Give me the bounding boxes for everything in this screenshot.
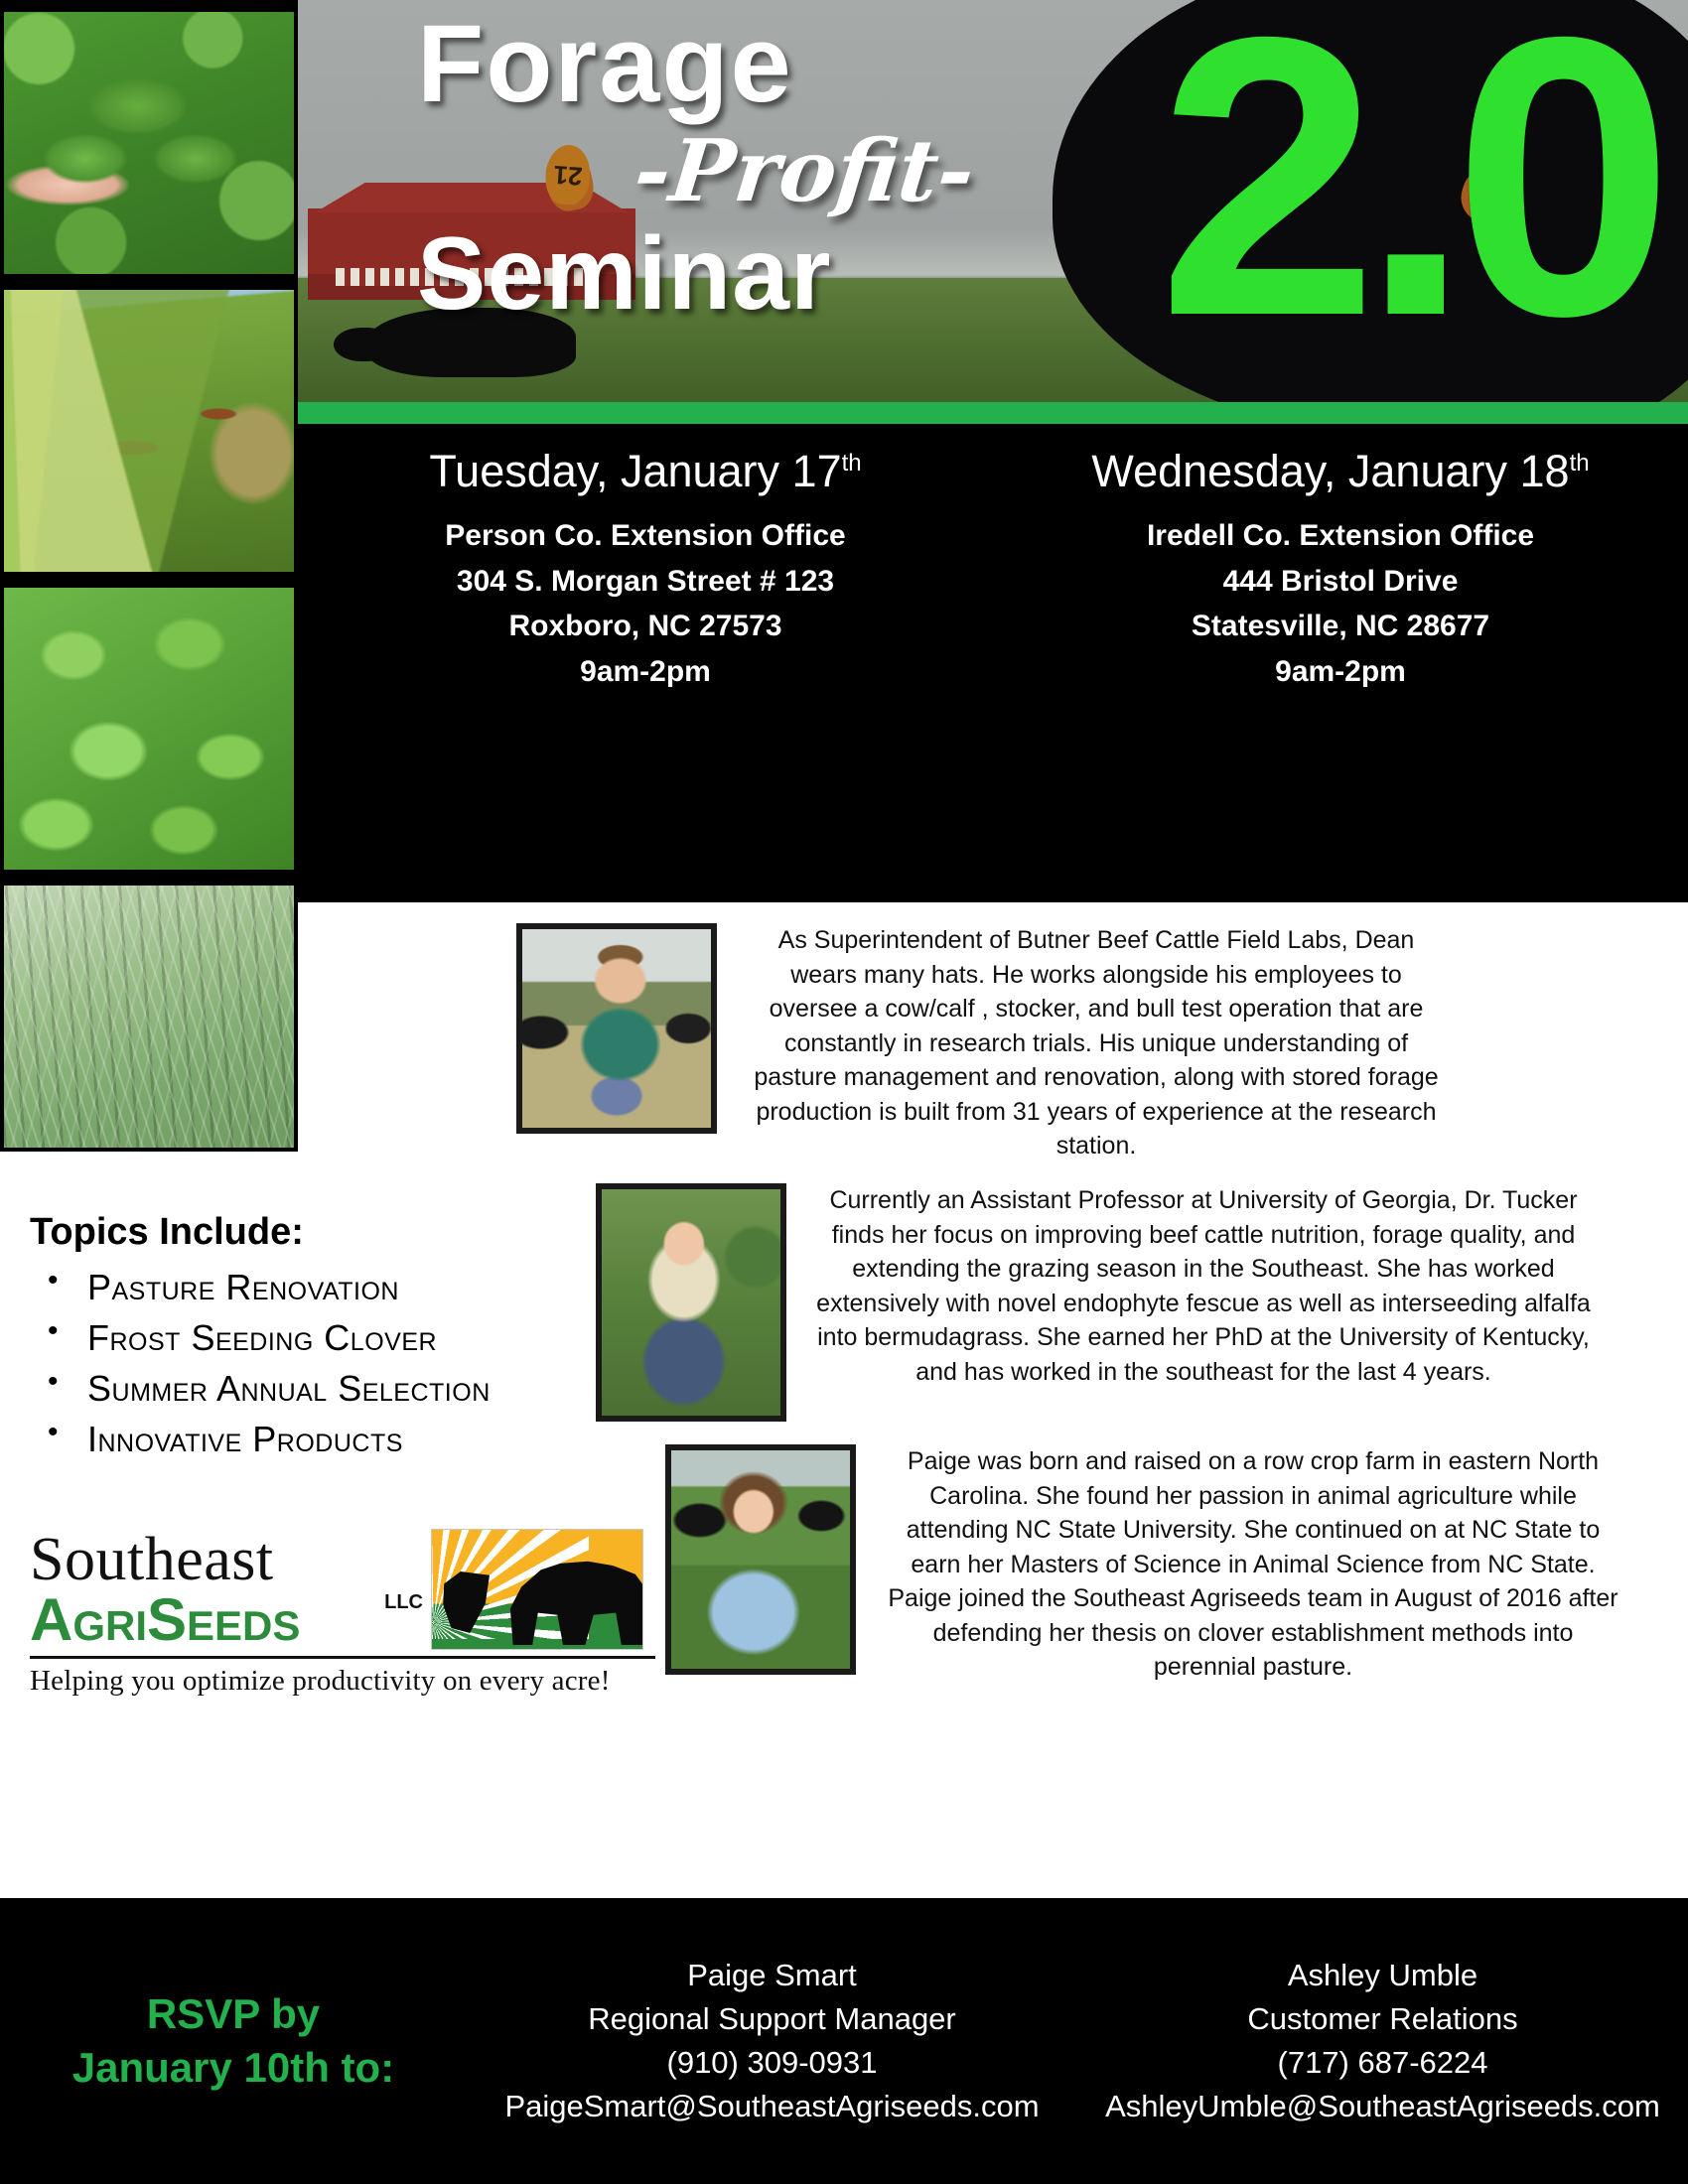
bio-jennifer-tucker: Currently an Assistant Professor at Univ…	[596, 1183, 1688, 1422]
photo-clover	[0, 8, 298, 278]
logo-word-southeast: Southeast	[30, 1530, 417, 1590]
event-address: 304 S. Morgan Street # 123	[298, 559, 993, 605]
topics-section: Topics Include: Pasture Renovation Frost…	[30, 1211, 586, 1464]
contact-title: Regional Support Manager	[467, 1997, 1077, 2041]
photo-dean-askew	[516, 923, 717, 1134]
topic-item: Summer Annual Selection	[30, 1363, 586, 1414]
logo-sunrise-cow-mark	[431, 1529, 643, 1650]
contact-title: Customer Relations	[1077, 1997, 1688, 2041]
photo-jennifer-tucker	[596, 1183, 786, 1422]
bio-dean-askew: As Superintendent of Butner Beef Cattle …	[516, 923, 1668, 1163]
event-city-state-zip: Statesville, NC 28677	[993, 604, 1688, 649]
guest-speaker-person: Guest Speaker: Dr. Jennifer Tucker	[298, 730, 993, 766]
guest-speaker-row: Guest Speaker: Dr. Jennifer Tucker Guest…	[298, 730, 1688, 766]
hero-banner: 21 Forage -Profit- Seminar 2.0	[298, 0, 1688, 417]
event-date-text: Wednesday, January 18	[1091, 446, 1569, 496]
bio-text-paige: Paige was born and raised on a row crop …	[886, 1444, 1620, 1685]
photo-corn	[0, 286, 298, 576]
contact-phone[interactable]: (910) 309-0931	[467, 2041, 1077, 2085]
topics-list: Pasture Renovation Frost Seeding Clover …	[30, 1262, 586, 1464]
photo-grass	[0, 882, 298, 1152]
logo-agriseeds-text: AgriSeeds	[30, 1586, 300, 1653]
logo-wordmark: Southeast AgriSeedsLLC	[30, 1530, 417, 1650]
bio-text-dean: As Superintendent of Butner Beef Cattle …	[749, 923, 1444, 1163]
event-city-state-zip: Roxboro, NC 27573	[298, 604, 993, 649]
bio-paige-smart: Paige was born and raised on a row crop …	[665, 1444, 1688, 1685]
paige-portrait-image	[671, 1450, 850, 1669]
event-date-suffix: th	[842, 450, 862, 477]
hero-title-group: Forage -Profit- Seminar	[417, 10, 1192, 326]
brassica-image	[4, 588, 294, 870]
grass-image	[4, 886, 294, 1148]
logo-llc-suffix: LLC	[384, 1592, 423, 1612]
left-photo-strip	[0, 0, 298, 1152]
event-date-text: Tuesday, January 17	[429, 446, 841, 496]
logo-tagline: Helping you optimize productivity on eve…	[30, 1665, 655, 1698]
contact-email[interactable]: PaigeSmart@SoutheastAgriseeds.com	[467, 2085, 1077, 2128]
event-column-person-county: Tuesday, January 17th Person Co. Extensi…	[298, 446, 993, 694]
event-date-suffix: th	[1570, 450, 1590, 477]
event-columns: Tuesday, January 17th Person Co. Extensi…	[298, 424, 1688, 694]
title-forage: Forage	[417, 10, 1192, 119]
clover-image	[4, 12, 294, 274]
corn-image	[4, 290, 294, 572]
contact-name: Paige Smart	[467, 1954, 1077, 1997]
topics-heading: Topics Include:	[30, 1211, 586, 1254]
event-details-band: Tuesday, January 17th Person Co. Extensi…	[298, 424, 1688, 902]
event-column-iredell-county: Wednesday, January 18th Iredell Co. Exte…	[993, 446, 1688, 694]
logo-divider-rule	[30, 1656, 655, 1659]
topic-item: Frost Seeding Clover	[30, 1312, 586, 1363]
contact-phone[interactable]: (717) 687-6224	[1077, 2041, 1688, 2085]
dean-portrait-image	[522, 929, 711, 1128]
rsvp-line-1: RSVP by	[0, 1987, 467, 2041]
photo-brassica	[0, 584, 298, 874]
title-profit-script: -Profit-	[412, 127, 1196, 216]
rsvp-line-2: January 10th to:	[0, 2041, 467, 2095]
contact-paige-smart: Paige Smart Regional Support Manager (91…	[467, 1954, 1077, 2128]
topic-item: Pasture Renovation	[30, 1262, 586, 1312]
event-date: Wednesday, January 18th	[993, 446, 1688, 497]
event-date: Tuesday, January 17th	[298, 446, 993, 497]
event-venue: Person Co. Extension Office	[298, 513, 993, 559]
contact-ashley-umble: Ashley Umble Customer Relations (717) 68…	[1077, 1954, 1688, 2128]
logo-row: Southeast AgriSeedsLLC	[30, 1529, 655, 1650]
photo-paige-smart	[665, 1444, 856, 1675]
event-address: 444 Bristol Drive	[993, 559, 1688, 605]
tucker-portrait-image	[602, 1189, 780, 1416]
company-logo: Southeast AgriSeedsLLC Helping you optim…	[30, 1529, 655, 1698]
contact-name: Ashley Umble	[1077, 1954, 1688, 1997]
title-seminar: Seminar	[417, 222, 1192, 326]
green-divider-bar	[298, 402, 1688, 424]
event-time: 9am-2pm	[993, 649, 1688, 695]
contact-email[interactable]: AshleyUmble@SoutheastAgriseeds.com	[1077, 2085, 1688, 2128]
guest-speaker-iredell: Guest Speaker: Dean Askew	[993, 730, 1688, 766]
logo-word-agriseeds: AgriSeedsLLC	[30, 1590, 417, 1650]
topic-item: Innovative Products	[30, 1414, 586, 1464]
bio-text-tucker: Currently an Assistant Professor at Univ…	[816, 1183, 1591, 1389]
event-venue: Iredell Co. Extension Office	[993, 513, 1688, 559]
footer-rsvp-bar: RSVP by January 10th to: Paige Smart Reg…	[0, 1898, 1688, 2184]
rsvp-heading: RSVP by January 10th to:	[0, 1987, 467, 2095]
event-time: 9am-2pm	[298, 649, 993, 695]
title-version-number: 2.0	[1158, 0, 1656, 375]
